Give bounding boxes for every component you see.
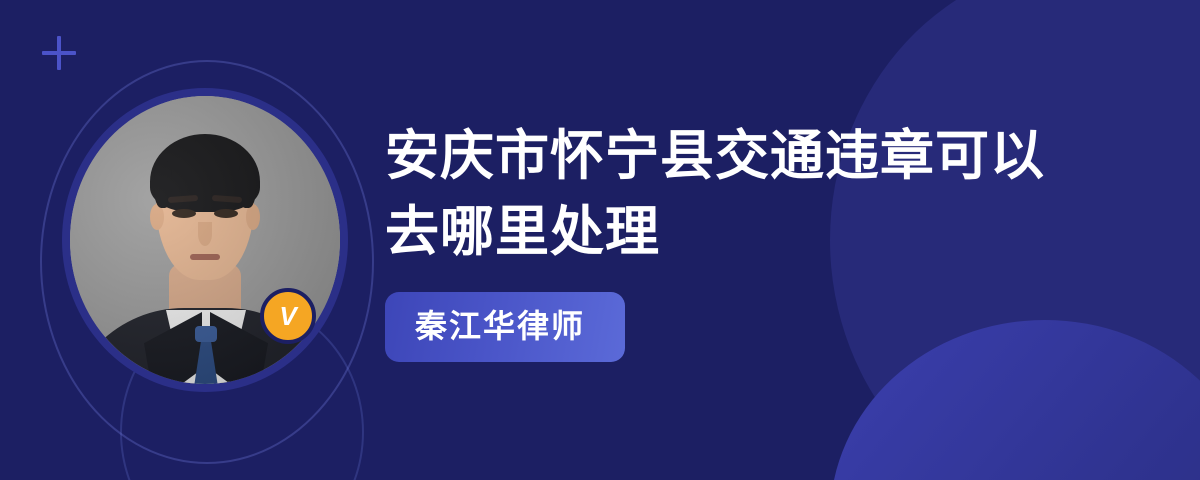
plus-icon (42, 36, 76, 70)
portrait-eye-left (172, 209, 196, 218)
portrait-mouth (190, 254, 220, 260)
verified-badge-icon: V (260, 288, 316, 344)
banner-content: 安庆市怀宁县交通违章可以去哪里处理 秦江华律师 (385, 118, 1125, 362)
portrait-eye-right (214, 209, 238, 218)
portrait-nose (198, 222, 212, 246)
author-name-chip: 秦江华律师 (385, 292, 625, 362)
article-cover-banner: V 安庆市怀宁县交通违章可以去哪里处理 秦江华律师 (0, 0, 1200, 480)
avatar: V (62, 88, 348, 392)
portrait-tie-knot (195, 326, 217, 342)
page-title: 安庆市怀宁县交通违章可以去哪里处理 (385, 118, 1075, 270)
